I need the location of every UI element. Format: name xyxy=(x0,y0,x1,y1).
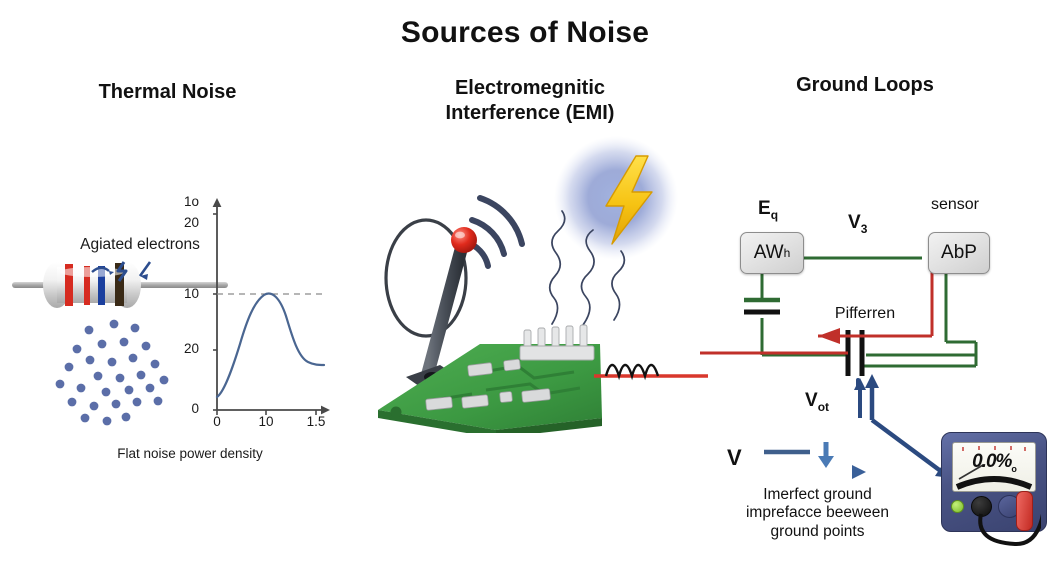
probe-cable xyxy=(971,512,1041,552)
box-awh[interactable]: AWh xyxy=(740,232,804,274)
ground-caption: Imerfect ground imprefacce beeween groun… xyxy=(700,486,935,541)
label-sensor: sensor xyxy=(915,196,995,214)
emi-illustration xyxy=(368,128,708,433)
chart-x-tick-0: 0 xyxy=(202,414,232,429)
label-v3: V3 xyxy=(848,212,867,236)
label-pifferren: Pifferren xyxy=(810,305,920,323)
label-vot: Vot xyxy=(805,390,829,414)
flat-noise-caption: Flat noise power density xyxy=(60,446,320,462)
emi-title-line-2: Interference (EMI) xyxy=(446,102,615,124)
section-title-ground-loops: Ground Loops xyxy=(740,73,990,98)
electron-cloud xyxy=(36,318,186,438)
chart-y-tick-1: 20 xyxy=(173,215,199,230)
ground-caption-line-2: imprefacce beeween xyxy=(746,504,889,521)
page-title: Sources of Noise xyxy=(0,16,1050,50)
section-title-thermal-noise: Thermal Noise xyxy=(35,80,300,105)
chart-y-tick-2: 10 xyxy=(173,286,199,301)
multimeter-display: 0.0%o xyxy=(952,442,1036,492)
label-v: V xyxy=(727,445,742,471)
box-abp[interactable]: AbP xyxy=(928,232,990,274)
chart-y-tick-0: 1o xyxy=(173,194,199,209)
chart-x-tick-2: 1.5 xyxy=(301,414,331,429)
emi-title-line-1: Electromegnitic xyxy=(455,77,605,99)
chart-y-tick-3: 20 xyxy=(173,341,199,356)
antenna-tip-icon xyxy=(451,227,477,253)
agitation-arrows-icon xyxy=(88,258,168,288)
box-abp-label: AbP xyxy=(929,233,989,273)
ground-potential-arrows-icon xyxy=(758,440,878,480)
section-title-emi: Electromegnitic Interference (EMI) xyxy=(395,76,665,126)
multimeter-reading: 0.0%o xyxy=(953,451,1035,474)
chart-y-tick-4: 0 xyxy=(173,401,199,416)
power-led-icon xyxy=(951,500,964,513)
chart-x-tick-1: 10 xyxy=(251,414,281,429)
noise-power-density-chart xyxy=(192,192,342,417)
poster-canvas: Sources of Noise Thermal Noise Electrome… xyxy=(0,0,1050,573)
box-awh-label: AWh xyxy=(741,233,803,273)
ground-caption-line-3: ground points xyxy=(771,523,865,540)
label-eq: Eq xyxy=(758,198,778,222)
multimeter[interactable]: 0.0%o xyxy=(941,432,1045,548)
ground-caption-line-1: Imerfect ground xyxy=(763,486,872,503)
